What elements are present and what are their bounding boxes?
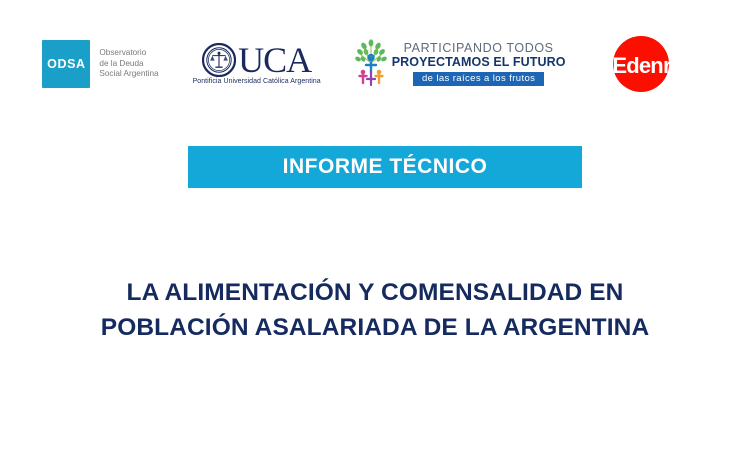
- uca-seal-icon: [202, 43, 236, 77]
- uca-letters: UCA: [238, 43, 311, 77]
- people-tree-icon: [355, 39, 387, 89]
- report-cover-page: ODSA Observatorio de la Deuda Social Arg…: [0, 0, 750, 450]
- logo-edenred: Edenred: [600, 36, 708, 92]
- logo-participando-todos: PARTICIPANDO TODOS PROYECTAMOS EL FUTURO…: [355, 36, 566, 92]
- participando-line-2: PROYECTAMOS EL FUTURO: [392, 56, 566, 70]
- page-title: LA ALIMENTACIÓN Y COMENSALIDAD EN POBLAC…: [95, 276, 655, 346]
- participando-line-3: de las raíces a los frutos: [413, 72, 544, 86]
- odsa-line-3: Social Argentina: [99, 69, 158, 80]
- logo-odsa: ODSA Observatorio de la Deuda Social Arg…: [42, 38, 158, 90]
- participando-wordmark: PARTICIPANDO TODOS PROYECTAMOS EL FUTURO…: [392, 42, 566, 87]
- informe-tecnico-label: INFORME TÉCNICO: [283, 155, 488, 179]
- logo-uca: UCA Pontificia Universidad Católica Arge…: [193, 35, 321, 93]
- edenred-wordmark: Edenred: [600, 53, 708, 79]
- odsa-line-2: de la Deuda: [99, 59, 158, 70]
- odsa-square-mark-icon: ODSA: [42, 40, 90, 88]
- uca-logo-top: UCA: [202, 43, 311, 77]
- uca-tagline: Pontificia Universidad Católica Argentin…: [193, 78, 321, 85]
- odsa-mark-label: ODSA: [47, 57, 86, 71]
- participando-line-1: PARTICIPANDO TODOS: [404, 42, 554, 56]
- odsa-wordmark: Observatorio de la Deuda Social Argentin…: [99, 48, 158, 80]
- informe-tecnico-banner: INFORME TÉCNICO: [188, 146, 582, 188]
- odsa-line-1: Observatorio: [99, 48, 158, 59]
- logo-bar: ODSA Observatorio de la Deuda Social Arg…: [0, 32, 750, 96]
